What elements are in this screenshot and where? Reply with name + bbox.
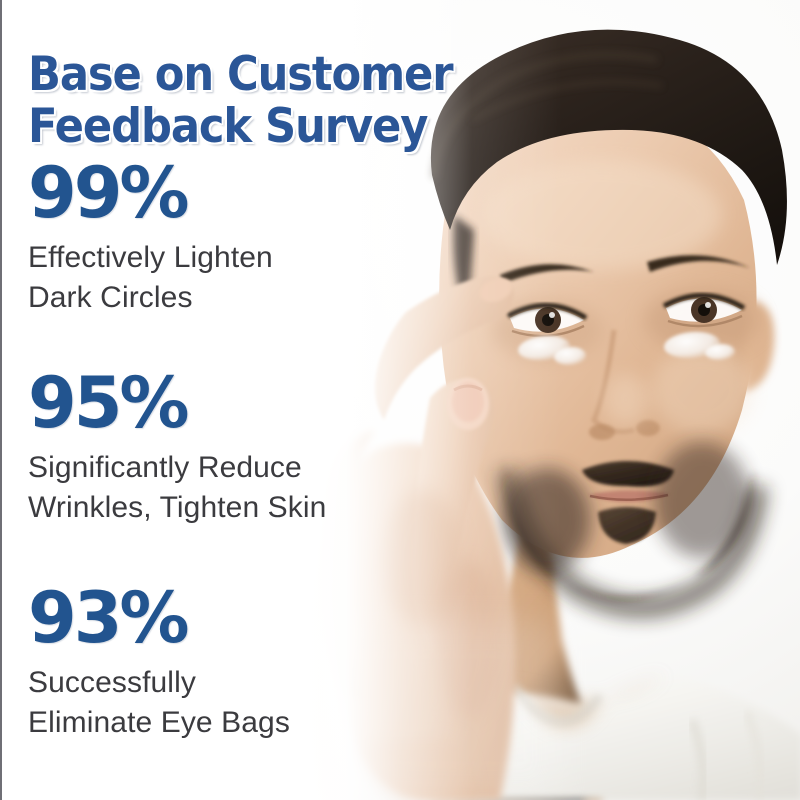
infographic-poster: Base on Customer Feedback Survey 99% Eff…: [0, 0, 800, 800]
stat-label-wrinkles: Significantly Reduce Wrinkles, Tighten S…: [28, 448, 326, 528]
stat-value-93: 93%: [28, 585, 290, 651]
stat-label-dark-circles: Effectively Lighten Dark Circles: [28, 238, 273, 318]
stat-value-99: 99%: [28, 160, 273, 226]
stat-block-eye-bags: 93% Successfully Eliminate Eye Bags: [26, 585, 290, 743]
stat-block-wrinkles: 95% Significantly Reduce Wrinkles, Tight…: [26, 370, 326, 528]
stat-block-dark-circles: 99% Effectively Lighten Dark Circles: [26, 160, 273, 318]
page-title: Base on Customer Feedback Survey: [28, 49, 506, 153]
poster-content: Base on Customer Feedback Survey 99% Eff…: [2, 0, 800, 800]
stat-label-eye-bags: Successfully Eliminate Eye Bags: [28, 663, 290, 743]
stat-value-95: 95%: [28, 370, 326, 436]
